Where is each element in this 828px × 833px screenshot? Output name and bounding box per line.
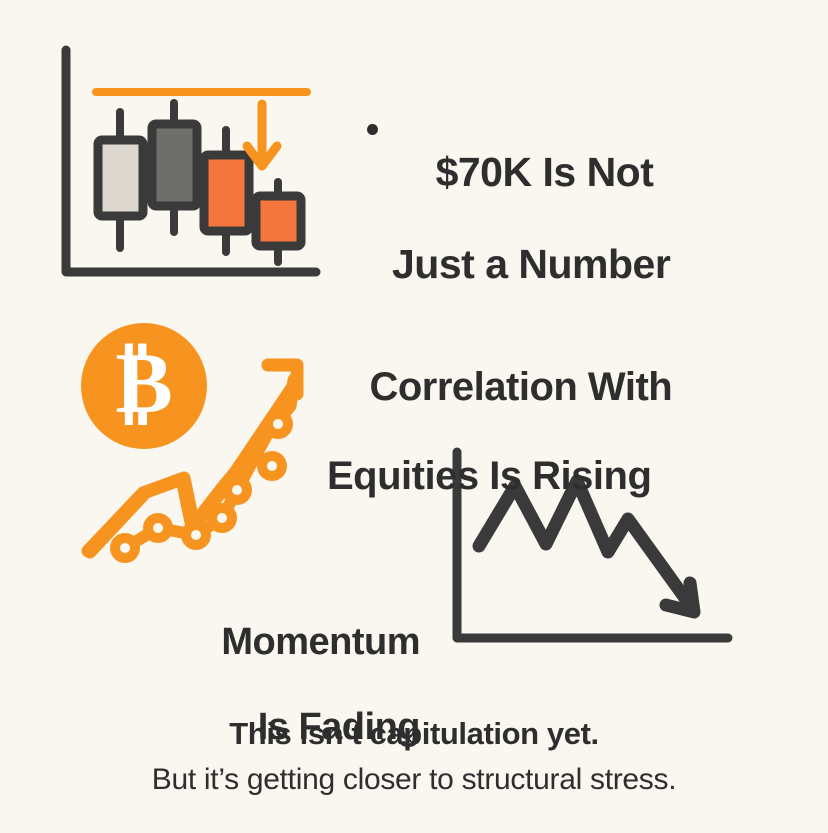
headline-price-level-line1: $70K Is Not [436, 149, 654, 195]
caption-line-2: But it’s getting closer to structural st… [0, 760, 828, 799]
bullet-dot-icon [367, 124, 378, 135]
headline-correlation-line1: Correlation With [369, 365, 672, 409]
headline-correlation-line2: Equities Is Rising [327, 454, 672, 499]
caption-block: This isn’t capitulation yet. But it’s ge… [0, 714, 828, 799]
headline-correlation: Correlation With Equities Is Rising [327, 320, 672, 589]
headline-momentum-line1: Momentum [221, 621, 420, 663]
headline-price-level-line2: Just a Number [392, 242, 670, 288]
caption-line-1: This isn’t capitulation yet. [0, 714, 828, 754]
infographic-poster: ₿ $70K Is Not Just a Number Correlation … [0, 0, 828, 828]
